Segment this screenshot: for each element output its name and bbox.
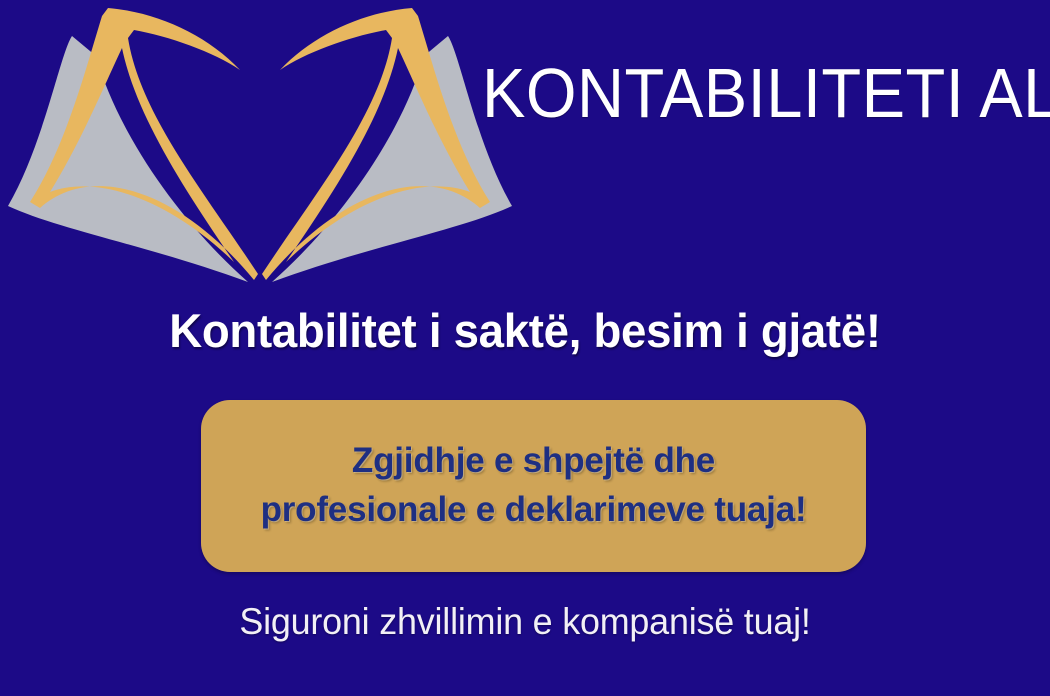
open-book-icon <box>0 0 520 284</box>
highlight-card-line-1: Zgjidhje e shpejtë dhe <box>352 439 715 484</box>
promo-banner: KONTABILITETI AL Kontabilitet i saktë, b… <box>0 0 1050 696</box>
highlight-card: Zgjidhje e shpejtë dhe profesionale e de… <box>201 400 866 572</box>
tagline: Kontabilitet i saktë, besim i gjatë! <box>16 303 1035 358</box>
brand-title: KONTABILITETI AL <box>482 50 1003 136</box>
footer-note: Siguroni zhvillimin e kompanisë tuaj! <box>16 601 1035 643</box>
highlight-card-line-2: profesionale e deklarimeve tuaja! <box>261 488 807 533</box>
